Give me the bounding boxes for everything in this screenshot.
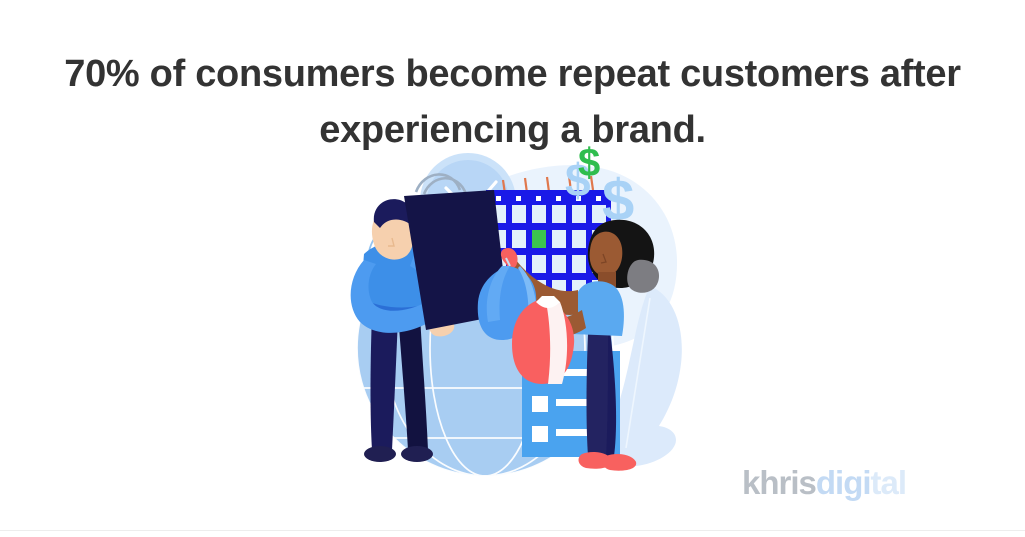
- calendar-highlighted-day: [532, 230, 546, 248]
- dollar-sign-green: $: [578, 141, 600, 185]
- checklist-checkbox: [532, 426, 548, 442]
- man-shoe-right: [401, 446, 433, 462]
- woman-hair-highlight: [627, 260, 659, 293]
- hero-illustration: $ $ $: [320, 138, 710, 483]
- man-shoe-left: [364, 446, 396, 462]
- bottom-divider: [0, 530, 1025, 531]
- logo-segment-digi: digi: [816, 464, 871, 501]
- page-canvas: 70% of consumers become repeat customers…: [0, 0, 1025, 537]
- woman-leg-left: [587, 330, 609, 458]
- logo-segment-khris: khris: [742, 464, 816, 501]
- woman-head: [590, 232, 623, 276]
- brand-logo[interactable]: khrisdigital: [742, 466, 906, 499]
- checklist-checkbox: [532, 396, 548, 412]
- logo-segment-tal: tal: [871, 464, 907, 501]
